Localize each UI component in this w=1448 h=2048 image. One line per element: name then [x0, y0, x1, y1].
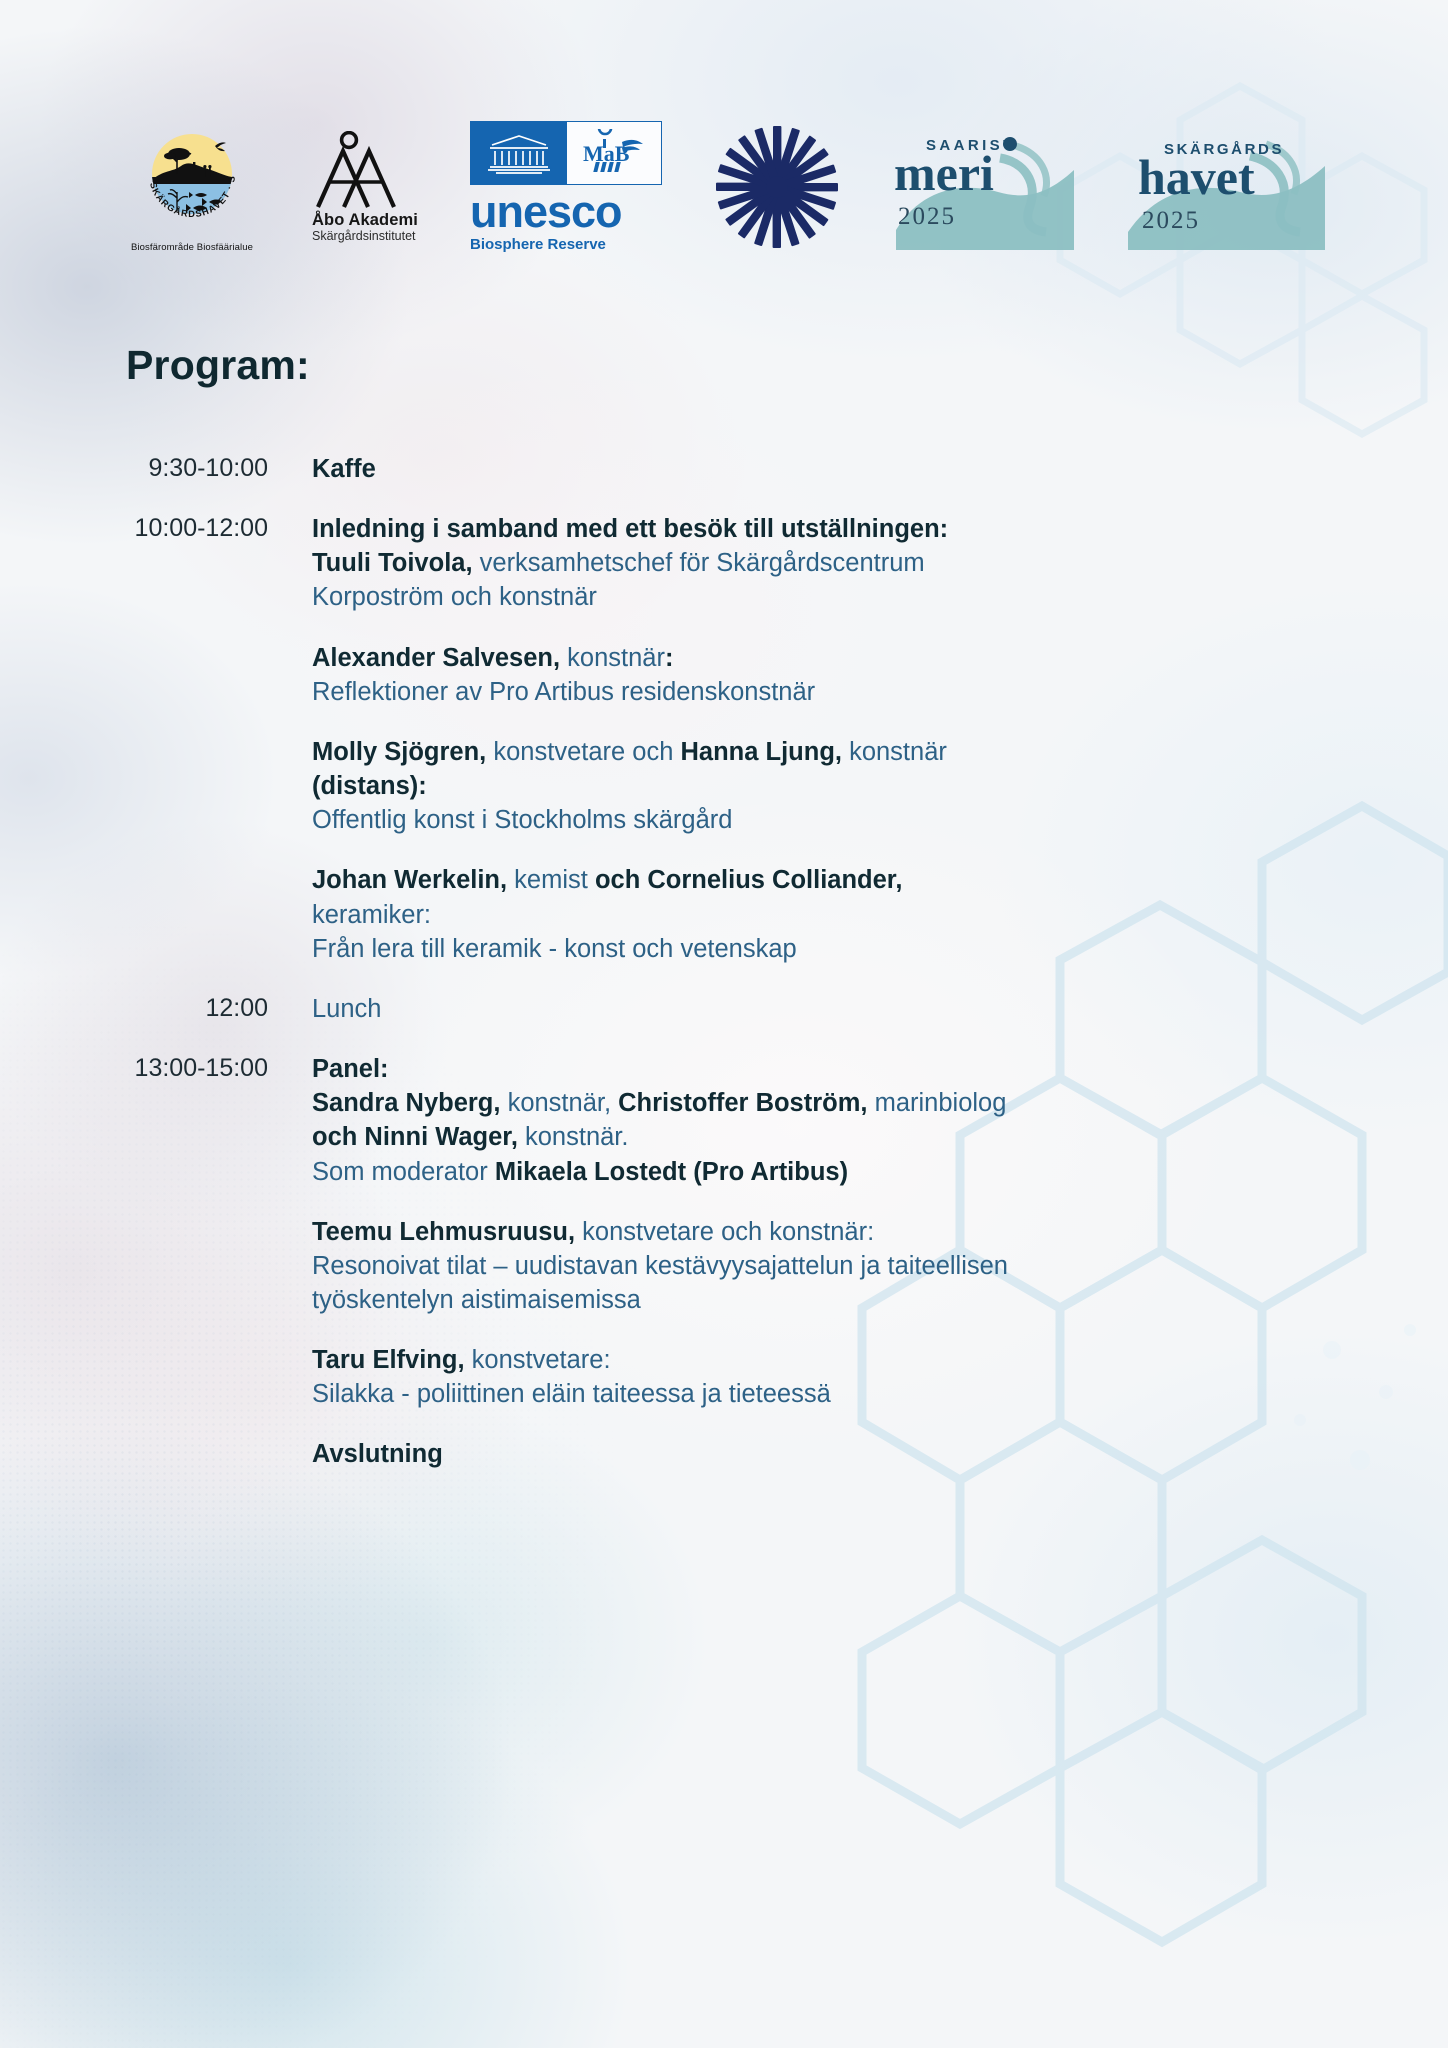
speaker-role: työskentelyn aistimaisemissa — [312, 1286, 641, 1314]
schedule-detail: Kaffe — [312, 452, 376, 486]
speaker-role: Som moderator — [312, 1158, 495, 1186]
speaker-name: : — [665, 644, 674, 672]
speaker-name: och Cornelius Colliander, — [595, 866, 902, 894]
speaker-role: konstvetare: — [465, 1346, 611, 1374]
logo-pro-artibus-starburst — [712, 122, 842, 252]
schedule-line: Inledning i samband med ett besök till u… — [312, 512, 948, 546]
unesco-mab-icon: MaB — [567, 122, 661, 184]
speaker-name: Avslutning — [312, 1440, 443, 1468]
speaker-role: konstvetare och — [486, 738, 680, 766]
saaristomeri-mark: SAARIST meri 2025 — [888, 122, 1078, 252]
speaker-name: (distans): — [312, 772, 427, 800]
speaker-role: keramiker: — [312, 901, 431, 929]
logo-unesco-biosphere: MaB unesco Biosphere Reserve — [470, 121, 666, 253]
havet-year: 2025 — [1142, 207, 1200, 234]
schedule-line: Tuuli Toivola, verksamhetschef för Skärg… — [312, 546, 948, 580]
schedule-line: (distans): — [312, 769, 948, 803]
speaker-name: Taru Elfving, — [312, 1346, 465, 1374]
speaker-name: Inledning i samband med ett besök till u… — [312, 515, 948, 543]
schedule-row: 9:30-10:00Kaffe — [0, 452, 1448, 486]
speaker-role: konstnär, — [500, 1089, 618, 1117]
speaker-role: konstvetare och konstnär: — [575, 1218, 874, 1246]
schedule-line: Som moderator Mikaela Lostedt (Pro Artib… — [312, 1155, 1008, 1189]
schedule-line: Taru Elfving, konstvetare: — [312, 1343, 1008, 1377]
speaker-name: Tuuli Toivola, — [312, 549, 473, 577]
speaker-role: Lunch — [312, 995, 381, 1023]
speaker-role: Från lera till keramik - konst och veten… — [312, 935, 797, 963]
schedule-line: Alexander Salvesen, konstnär: — [312, 641, 948, 675]
speaker-name: Molly Sjögren, — [312, 738, 486, 766]
speaker-name: och Ninni Wager, — [312, 1123, 518, 1151]
meri-word: meri — [894, 145, 994, 201]
schedule-time: 12:00 — [0, 992, 268, 1025]
logo-abo-akademi: Åbo Akademi Skärgårdsinstitutet — [312, 131, 424, 244]
schedule-line: Kaffe — [312, 452, 376, 486]
schedule-line: Panel: — [312, 1052, 1008, 1086]
biosphere-caption: Biosfärområde Biosfäärialue — [118, 242, 266, 253]
schedule-line: Avslutning — [312, 1437, 1008, 1471]
speaker-role: konstnär — [560, 644, 665, 672]
starburst-icon — [712, 122, 842, 252]
schedule-line: Johan Werkelin, kemist och Cornelius Col… — [312, 863, 948, 897]
speaker-role: kemist — [507, 866, 595, 894]
speaker-name: Sandra Nyberg, — [312, 1089, 500, 1117]
logo-strip: SKÄRGÅRDSHAVET · SAARISTOMERI Biosfäromr… — [0, 112, 1448, 262]
schedule-detail: Lunch — [312, 992, 381, 1026]
speaker-name: Hanna Ljung, — [680, 738, 842, 766]
schedule-time: 10:00-12:00 — [0, 512, 268, 545]
speaker-role: konstnär. — [518, 1123, 629, 1151]
logo-saaristomeri-2025: SAARIST meri 2025 — [888, 122, 1078, 252]
biosphere-roundel-graphic: SKÄRGÅRDSHAVET · SAARISTOMERI — [133, 122, 251, 240]
abo-akademi-mark — [312, 131, 400, 209]
speaker-role: Korpoström och konstnär — [312, 583, 597, 611]
unesco-temple-icon — [471, 122, 567, 184]
speaker-role: Offentlig konst i Stockholms skärgård — [312, 806, 732, 834]
schedule-row: 13:00-15:00Panel:Sandra Nyberg, konstnär… — [0, 1052, 1448, 1472]
schedule-line: Molly Sjögren, konstvetare och Hanna Lju… — [312, 735, 948, 769]
schedule-line: Från lera till keramik - konst och veten… — [312, 932, 948, 966]
schedule-line: och Ninni Wager, konstnär. — [312, 1120, 1008, 1154]
schedule-line: keramiker: — [312, 898, 948, 932]
schedule-line: Korpoström och konstnär — [312, 580, 948, 614]
schedule-line: Lunch — [312, 992, 381, 1026]
speaker-role: verksamhetschef för Skärgårdscentrum — [473, 549, 925, 577]
abo-akademi-title: Åbo Akademi — [312, 211, 424, 229]
schedule-line: Teemu Lehmusruusu, konstvetare och konst… — [312, 1215, 1008, 1249]
speaker-name: Kaffe — [312, 455, 376, 483]
schedule-detail: Panel:Sandra Nyberg, konstnär, Christoff… — [312, 1052, 1008, 1472]
schedule-detail: Inledning i samband med ett besök till u… — [312, 512, 948, 966]
schedule-line: Silakka - poliittinen eläin taiteessa ja… — [312, 1377, 1008, 1411]
logo-biosphere-reserve-roundel: SKÄRGÅRDSHAVET · SAARISTOMERI Biosfäromr… — [118, 122, 266, 253]
speaker-role: Reflektioner av Pro Artibus residenskons… — [312, 678, 815, 706]
speaker-name: Alexander Salvesen, — [312, 644, 560, 672]
abo-akademi-subtitle: Skärgårdsinstitutet — [312, 229, 424, 243]
schedule-time: 13:00-15:00 — [0, 1052, 268, 1085]
speaker-name: Johan Werkelin, — [312, 866, 507, 894]
logo-skargardshavet-2025: SKÄRGÅRDS havet 2025 — [1124, 122, 1329, 252]
speaker-name: Christoffer Boström, — [618, 1089, 867, 1117]
speaker-role: Resonoivat tilat – uudistavan kestävyysa… — [312, 1252, 1008, 1280]
speaker-role: konstnär — [842, 738, 947, 766]
havet-word: havet — [1138, 149, 1255, 205]
speaker-name: Mikaela Lostedt (Pro Artibus) — [495, 1158, 848, 1186]
schedule-row: 10:00-12:00Inledning i samband med ett b… — [0, 512, 1448, 966]
schedule-time: 9:30-10:00 — [0, 452, 268, 485]
skargardshavet-mark: SKÄRGÅRDS havet 2025 — [1124, 122, 1329, 252]
speaker-role: marinbiolog — [868, 1089, 1007, 1117]
program-schedule: 9:30-10:00Kaffe10:00-12:00Inledning i sa… — [0, 452, 1448, 1498]
schedule-line: työskentelyn aistimaisemissa — [312, 1283, 1008, 1317]
schedule-row: 12:00Lunch — [0, 992, 1448, 1026]
unesco-wordmark: unesco — [470, 191, 666, 234]
meri-year: 2025 — [898, 203, 956, 230]
unesco-subtitle: Biosphere Reserve — [470, 236, 666, 253]
speaker-name: Teemu Lehmusruusu, — [312, 1218, 575, 1246]
page-title: Program: — [126, 342, 310, 389]
speaker-role: Silakka - poliittinen eläin taiteessa ja… — [312, 1380, 831, 1408]
schedule-line: Offentlig konst i Stockholms skärgård — [312, 803, 948, 837]
schedule-line: Resonoivat tilat – uudistavan kestävyysa… — [312, 1249, 1008, 1283]
schedule-line: Sandra Nyberg, konstnär, Christoffer Bos… — [312, 1086, 1008, 1120]
schedule-line: Reflektioner av Pro Artibus residenskons… — [312, 675, 948, 709]
unesco-emblem-band: MaB — [470, 121, 662, 185]
speaker-name: Panel: — [312, 1055, 389, 1083]
